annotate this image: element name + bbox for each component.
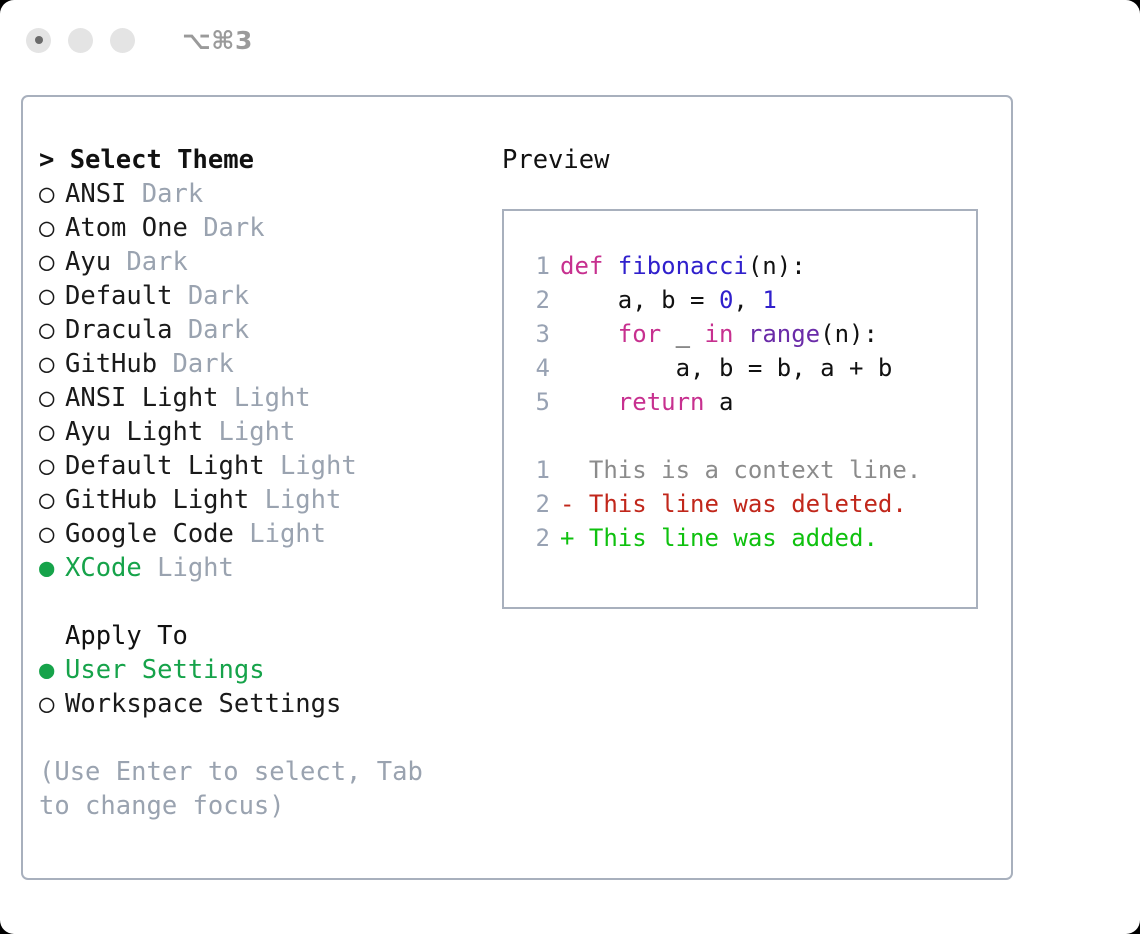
theme-option[interactable]: ○Atom One Dark [39,211,494,245]
radio-icon: ○ [39,483,65,517]
theme-kind: Dark [188,315,249,345]
keyboard-hint-text: (Use Enter to select, Tab to change focu… [39,755,459,823]
line-number: 2 [516,521,550,555]
theme-kind: Dark [142,179,203,209]
theme-name: Atom One [65,213,188,243]
radio-icon: ○ [39,313,65,347]
apply-to-heading: Apply To [39,619,494,653]
line-number: 3 [516,317,550,351]
theme-kind: Dark [126,247,187,277]
radio-icon: ○ [39,177,65,211]
apply-to-option-workspace-settings[interactable]: ○Workspace Settings [39,687,494,721]
line-number: 1 [516,453,550,487]
code-token: a, b = [560,286,719,314]
radio-icon: ○ [39,687,65,721]
radio-icon: ○ [39,347,65,381]
window-dot-second[interactable] [68,28,93,53]
line-number: 5 [516,385,550,419]
theme-option[interactable]: ○ANSI Dark [39,177,494,211]
dialog-columns: > Select Theme ○ANSI Dark ○Atom One Dark… [23,97,1011,878]
theme-name: Ayu Light [65,417,203,447]
line-number: 2 [516,487,550,521]
theme-option[interactable]: ○Default Dark [39,279,494,313]
radio-icon: ○ [39,245,65,279]
window-dot-active[interactable] [26,28,51,53]
code-token: a, b = b, a + b [560,354,892,382]
theme-option[interactable]: ○Ayu Light Light [39,415,494,449]
theme-name: GitHub Light [65,485,249,515]
code-token: fibonacci [618,252,748,280]
theme-kind: Light [234,383,311,413]
code-token: 0 [719,286,733,314]
diff-text: This line was added. [574,524,877,552]
diff-sign: - [560,490,574,518]
diff-line-deleted: 2- This line was deleted. [516,487,976,521]
diff-text: This line was deleted. [574,490,906,518]
theme-option[interactable]: ○Google Code Light [39,517,494,551]
code-line: 3 for _ in range(n): [516,317,976,351]
theme-name: Default [65,281,172,311]
apply-to-option-label: Workspace Settings [65,689,341,719]
code-line: 5 return a [516,385,976,419]
apply-to-list: ●User Settings ○Workspace Settings [39,653,494,721]
theme-option[interactable]: ○ANSI Light Light [39,381,494,415]
select-theme-heading: > Select Theme [39,143,494,177]
radio-selected-icon: ● [39,653,65,687]
theme-kind: Light [280,451,357,481]
theme-name: Dracula [65,315,172,345]
code-line: 1def fibonacci(n): [516,249,976,283]
theme-name: ANSI [65,179,126,209]
line-number: 2 [516,283,550,317]
code-token: (n): [748,252,806,280]
radio-icon: ○ [39,449,65,483]
code-token: a [705,388,734,416]
code-token: range [748,320,820,348]
apply-to-option-user-settings[interactable]: ●User Settings [39,653,494,687]
theme-name: GitHub [65,349,157,379]
dialog-frame: > Select Theme ○ANSI Dark ○Atom One Dark… [21,95,1013,880]
theme-kind: Dark [188,281,249,311]
preview-divider-space [516,419,976,453]
diff-sign [560,456,574,484]
keyboard-shortcut-label: ⌥⌘3 [182,26,253,55]
code-token: for [618,320,661,348]
apply-to-option-label: User Settings [65,655,265,685]
diff-sign: + [560,524,574,552]
theme-kind: Light [157,553,234,583]
code-token [560,388,618,416]
radio-icon: ○ [39,279,65,313]
preview-heading: Preview [502,143,992,177]
diff-line-added: 2+ This line was added. [516,521,976,555]
code-token: return [618,388,705,416]
theme-panel: > Select Theme ○ANSI Dark ○Atom One Dark… [39,143,494,823]
radio-icon: ○ [39,211,65,245]
theme-kind: Light [249,519,326,549]
theme-name: Ayu [65,247,111,277]
diff-text: This is a context line. [574,456,921,484]
code-token: 1 [762,286,776,314]
theme-name: XCode [65,553,142,583]
window-dot-third[interactable] [110,28,135,53]
code-token: (n): [820,320,878,348]
titlebar: ⌥⌘3 [0,0,1140,80]
theme-name: Google Code [65,519,234,549]
code-token: , [733,286,762,314]
theme-kind: Light [219,417,296,447]
code-token: _ [661,320,704,348]
theme-option-selected[interactable]: ●XCode Light [39,551,494,585]
theme-kind: Dark [172,349,233,379]
window-controls [26,28,135,53]
code-token [560,320,618,348]
theme-name: Default Light [65,451,265,481]
code-token: in [705,320,734,348]
radio-icon: ○ [39,381,65,415]
code-line: 2 a, b = 0, 1 [516,283,976,317]
line-number: 4 [516,351,550,385]
preview-panel: Preview 1def fibonacci(n): 2 a, b = 0, 1… [502,143,992,609]
theme-option[interactable]: ○Ayu Dark [39,245,494,279]
diff-line-context: 1 This is a context line. [516,453,976,487]
theme-option[interactable]: ○Default Light Light [39,449,494,483]
code-token [733,320,747,348]
window-dot-active-indicator [35,36,43,44]
preview-box: 1def fibonacci(n): 2 a, b = 0, 1 3 for _… [502,209,978,609]
line-number: 1 [516,249,550,283]
code-line: 4 a, b = b, a + b [516,351,976,385]
theme-name: ANSI Light [65,383,219,413]
radio-icon: ○ [39,517,65,551]
theme-kind: Light [265,485,342,515]
theme-list: ○ANSI Dark ○Atom One Dark ○Ayu Dark ○Def… [39,177,494,585]
app-window: ⌥⌘3 > Select Theme ○ANSI Dark ○Atom One … [0,0,1140,934]
apply-to-label: Apply To [65,621,188,651]
theme-option[interactable]: ○Dracula Dark [39,313,494,347]
radio-icon: ○ [39,415,65,449]
radio-selected-icon: ● [39,551,65,585]
code-token: def [560,252,618,280]
theme-kind: Dark [203,213,264,243]
theme-option[interactable]: ○GitHub Dark [39,347,494,381]
theme-option[interactable]: ○GitHub Light Light [39,483,494,517]
